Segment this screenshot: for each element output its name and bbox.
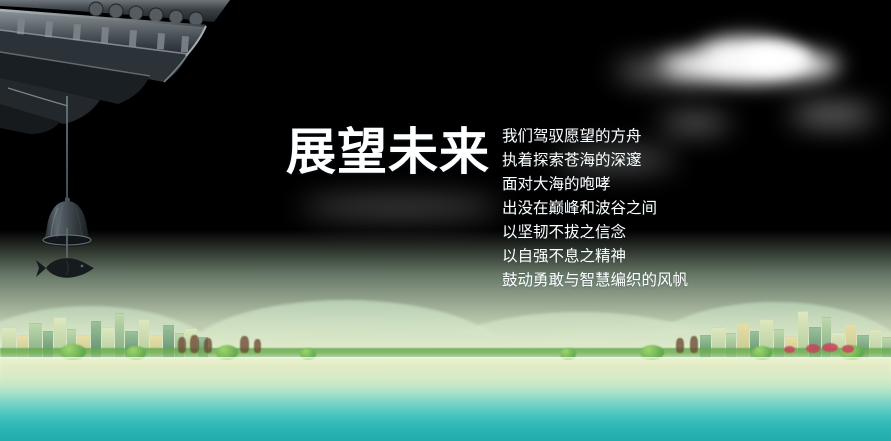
tree <box>254 339 261 353</box>
flower-cluster <box>842 345 854 353</box>
bell-string <box>66 96 68 200</box>
water-reflection <box>0 362 891 388</box>
flower-cluster <box>806 344 820 353</box>
tree <box>190 335 199 353</box>
tree <box>178 337 186 353</box>
temple-eave-icon <box>0 0 230 135</box>
tree <box>240 336 249 353</box>
page-title: 展望未来 <box>286 124 490 180</box>
poem-line: 我们驾驭愿望的方舟 <box>502 124 762 148</box>
flower-cluster <box>784 346 795 353</box>
poem-line: 以坚韧不拔之信念 <box>502 220 762 244</box>
tree <box>690 336 698 353</box>
poem-line: 出没在巅峰和波谷之间 <box>502 196 762 220</box>
fish-clapper-icon <box>36 252 102 282</box>
poem-block: 我们驾驭愿望的方舟 执着探索苍海的深邃 面对大海的咆哮 出没在巅峰和波谷之间 以… <box>502 124 762 292</box>
cloud-icon <box>790 106 876 124</box>
cloud-icon <box>744 44 810 72</box>
poem-line: 面对大海的咆哮 <box>502 172 762 196</box>
cloud-icon <box>616 62 712 80</box>
poem-line: 鼓动勇敢与智慧编织的风帆 <box>502 268 762 292</box>
tree <box>204 338 212 353</box>
poem-line: 以自强不息之精神 <box>502 244 762 268</box>
tree <box>676 338 684 353</box>
poem-line: 执着探索苍海的深邃 <box>502 148 762 172</box>
cloud-icon <box>300 196 500 218</box>
poster-canvas: 展望未来 我们驾驭愿望的方舟 执着探索苍海的深邃 面对大海的咆哮 出没在巅峰和波… <box>0 0 891 441</box>
flower-cluster <box>822 343 838 352</box>
